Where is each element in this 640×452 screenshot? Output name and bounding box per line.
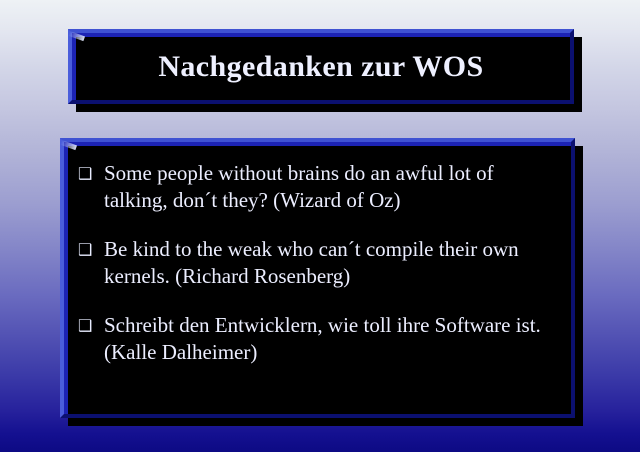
- title-placeholder[interactable]: Nachgedanken zur WOS: [68, 29, 574, 104]
- list-item[interactable]: ❑ Be kind to the weak who can´t compile …: [78, 236, 559, 290]
- list-item[interactable]: ❑ Some people without brains do an awful…: [78, 160, 559, 214]
- list-item[interactable]: ❑ Schreibt den Entwicklern, wie toll ihr…: [78, 312, 559, 366]
- square-bullet-icon: ❑: [78, 236, 104, 263]
- page-title: Nachgedanken zur WOS: [158, 52, 483, 82]
- square-bullet-icon: ❑: [78, 160, 104, 187]
- list-item-text: Some people without brains do an awful l…: [104, 160, 559, 214]
- presentation-slide: Nachgedanken zur WOS ❑ Some people witho…: [0, 0, 640, 452]
- list-item-text: Be kind to the weak who can´t compile th…: [104, 236, 559, 290]
- content-placeholder[interactable]: ❑ Some people without brains do an awful…: [60, 138, 575, 418]
- square-bullet-icon: ❑: [78, 312, 104, 339]
- bullet-list: ❑ Some people without brains do an awful…: [60, 138, 575, 418]
- list-item-text: Schreibt den Entwicklern, wie toll ihre …: [104, 312, 559, 366]
- title-inner: Nachgedanken zur WOS: [68, 29, 574, 104]
